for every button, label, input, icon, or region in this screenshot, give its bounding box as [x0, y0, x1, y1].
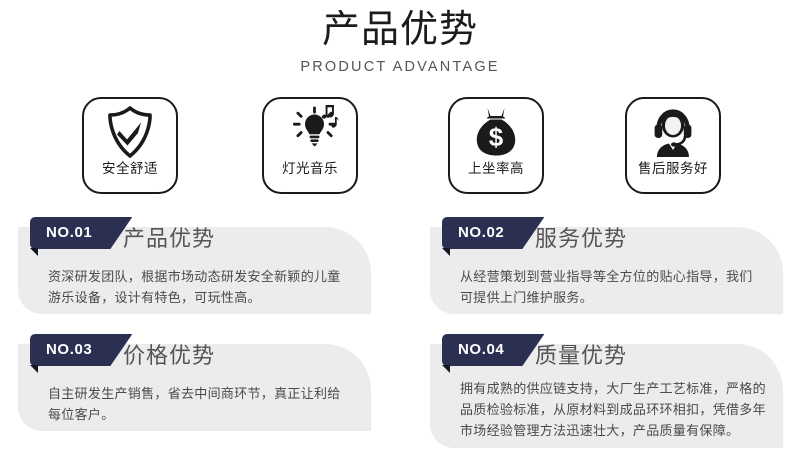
card-heading: 服务优势 — [535, 226, 627, 252]
feature-label: 灯光音乐 — [282, 161, 338, 177]
feature-label: 安全舒适 — [102, 161, 158, 177]
card-body: 从经营策划到营业指导等全方位的贴心指导，我们可提供上门维护服务。 — [460, 266, 765, 308]
card-body: 拥有成熟的供应链支持，大厂生产工艺标准，严格的品质检验标准，从原材料到成品环环相… — [460, 378, 770, 441]
feature-card-safe[interactable]: 安全舒适 — [82, 97, 178, 194]
card-body: 资深研发团队，根据市场动态研发安全新颖的儿童游乐设备，设计有特色，可玩性高。 — [48, 266, 353, 308]
svg-text:$: $ — [489, 122, 504, 152]
badge-fold-icon — [442, 248, 450, 256]
headset-support-icon — [627, 99, 719, 161]
page-header: 产品优势 PRODUCT ADVANTAGE — [0, 0, 800, 77]
advantage-card-4[interactable]: NO.04 质量优势 拥有成熟的供应链支持，大厂生产工艺标准，严格的品质检验标准… — [430, 344, 783, 448]
feature-card-light-music[interactable]: 灯光音乐 — [262, 97, 358, 194]
page-title: 产品优势 — [0, 6, 800, 54]
card-body: 自主研发生产销售，省去中间商环节，真正让利给每位客户。 — [48, 383, 353, 425]
feature-icon-row: 安全舒适 — [0, 97, 800, 197]
badge-fold-icon — [30, 248, 38, 256]
money-bag-icon: $ — [450, 99, 542, 161]
badge-no-04: NO.04 — [442, 334, 544, 366]
card-heading: 产品优势 — [123, 226, 215, 252]
feature-label: 上坐率高 — [468, 161, 524, 177]
lightbulb-music-icon — [264, 99, 356, 161]
badge-no-01: NO.01 — [30, 217, 132, 249]
card-heading: 质量优势 — [535, 343, 627, 369]
advantage-card-2[interactable]: NO.02 服务优势 从经营策划到营业指导等全方位的贴心指导，我们可提供上门维护… — [430, 227, 783, 314]
badge-no-03: NO.03 — [30, 334, 132, 366]
feature-label: 售后服务好 — [638, 161, 708, 177]
feature-card-occupancy[interactable]: $ 上坐率高 — [448, 97, 544, 194]
advantage-card-1[interactable]: NO.01 产品优势 资深研发团队，根据市场动态研发安全新颖的儿童游乐设备，设计… — [18, 227, 371, 314]
badge-label: NO.03 — [46, 334, 92, 366]
badge-no-02: NO.02 — [442, 217, 544, 249]
card-heading: 价格优势 — [123, 343, 215, 369]
shield-check-icon — [84, 99, 176, 161]
badge-label: NO.04 — [458, 334, 504, 366]
badge-label: NO.01 — [46, 217, 92, 249]
badge-fold-icon — [442, 365, 450, 373]
badge-label: NO.02 — [458, 217, 504, 249]
feature-card-service[interactable]: 售后服务好 — [625, 97, 721, 194]
advantage-card-3[interactable]: NO.03 价格优势 自主研发生产销售，省去中间商环节，真正让利给每位客户。 — [18, 344, 371, 431]
page-subtitle: PRODUCT ADVANTAGE — [0, 57, 800, 77]
badge-fold-icon — [30, 365, 38, 373]
